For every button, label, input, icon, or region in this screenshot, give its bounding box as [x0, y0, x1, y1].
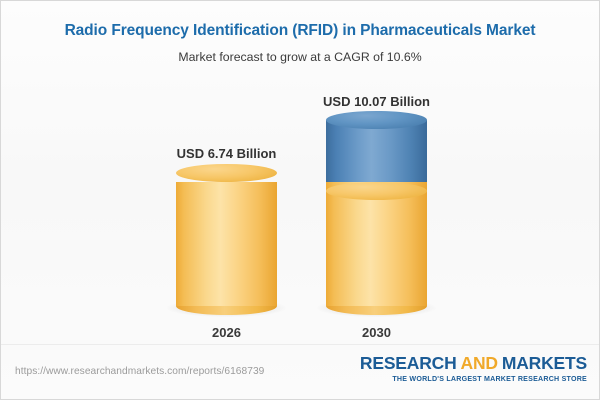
- cylinder-top-cap-2030: [326, 111, 427, 129]
- bar-chart: USD 6.74 Billion 2026 USD 10.07 Billion: [1, 1, 600, 346]
- bar-group-2026: USD 6.74 Billion 2026: [176, 1, 277, 346]
- cylinder-top-cap-2026: [176, 164, 277, 182]
- bar-value-label-2030: USD 10.07 Billion: [267, 94, 487, 109]
- cylinder-segment-base-2030: [326, 182, 427, 306]
- cylinder-2030[interactable]: [326, 120, 427, 306]
- cylinder-segment-growth-2030: [326, 120, 427, 182]
- infographic-canvas: Radio Frequency Identification (RFID) in…: [0, 0, 600, 400]
- logo-wordmark: RESEARCHANDMARKETS: [360, 355, 587, 373]
- logo-word-markets: MARKETS: [502, 353, 587, 373]
- footer: https://www.researchandmarkets.com/repor…: [1, 344, 600, 399]
- report-url-link[interactable]: https://www.researchandmarkets.com/repor…: [15, 366, 264, 377]
- bar-value-label-2026: USD 6.74 Billion: [117, 146, 337, 161]
- cylinder-2026[interactable]: [176, 173, 277, 306]
- footer-divider: [1, 344, 600, 345]
- research-and-markets-logo[interactable]: RESEARCHANDMARKETS THE WORLD'S LARGEST M…: [360, 355, 587, 383]
- bar-group-2030: USD 10.07 Billion 2030: [326, 1, 427, 346]
- cylinder-segment-seam-2030: [326, 182, 427, 200]
- logo-tagline: THE WORLD'S LARGEST MARKET RESEARCH STOR…: [360, 376, 587, 383]
- cylinder-body-2026: [176, 182, 277, 306]
- logo-word-research: RESEARCH: [360, 353, 457, 373]
- bar-category-label-2030: 2030: [267, 325, 487, 340]
- logo-word-and: AND: [461, 353, 498, 373]
